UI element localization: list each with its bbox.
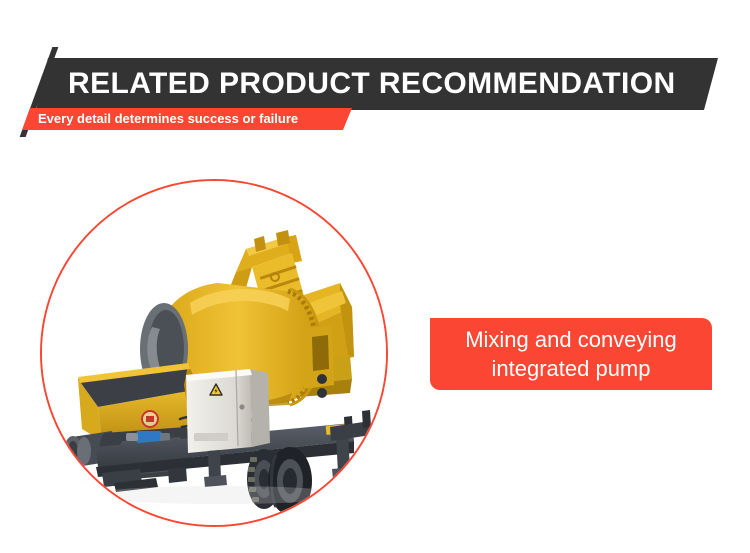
product-name-label: Mixing and conveying integrated pump — [430, 325, 712, 383]
control-cabinet — [186, 369, 270, 453]
section-title: RELATED PRODUCT RECOMMENDATION — [68, 59, 708, 109]
product-image[interactable] — [40, 179, 388, 527]
product-name-badge[interactable]: Mixing and conveying integrated pump — [430, 318, 712, 390]
section-header-banner: RELATED PRODUCT RECOMMENDATION Every det… — [0, 0, 750, 150]
concrete-mixer-pump-illustration — [40, 179, 388, 527]
section-subtitle: Every detail determines success or failu… — [38, 108, 298, 130]
product-recommendation-page: RELATED PRODUCT RECOMMENDATION Every det… — [0, 0, 750, 553]
wheels — [247, 447, 312, 515]
